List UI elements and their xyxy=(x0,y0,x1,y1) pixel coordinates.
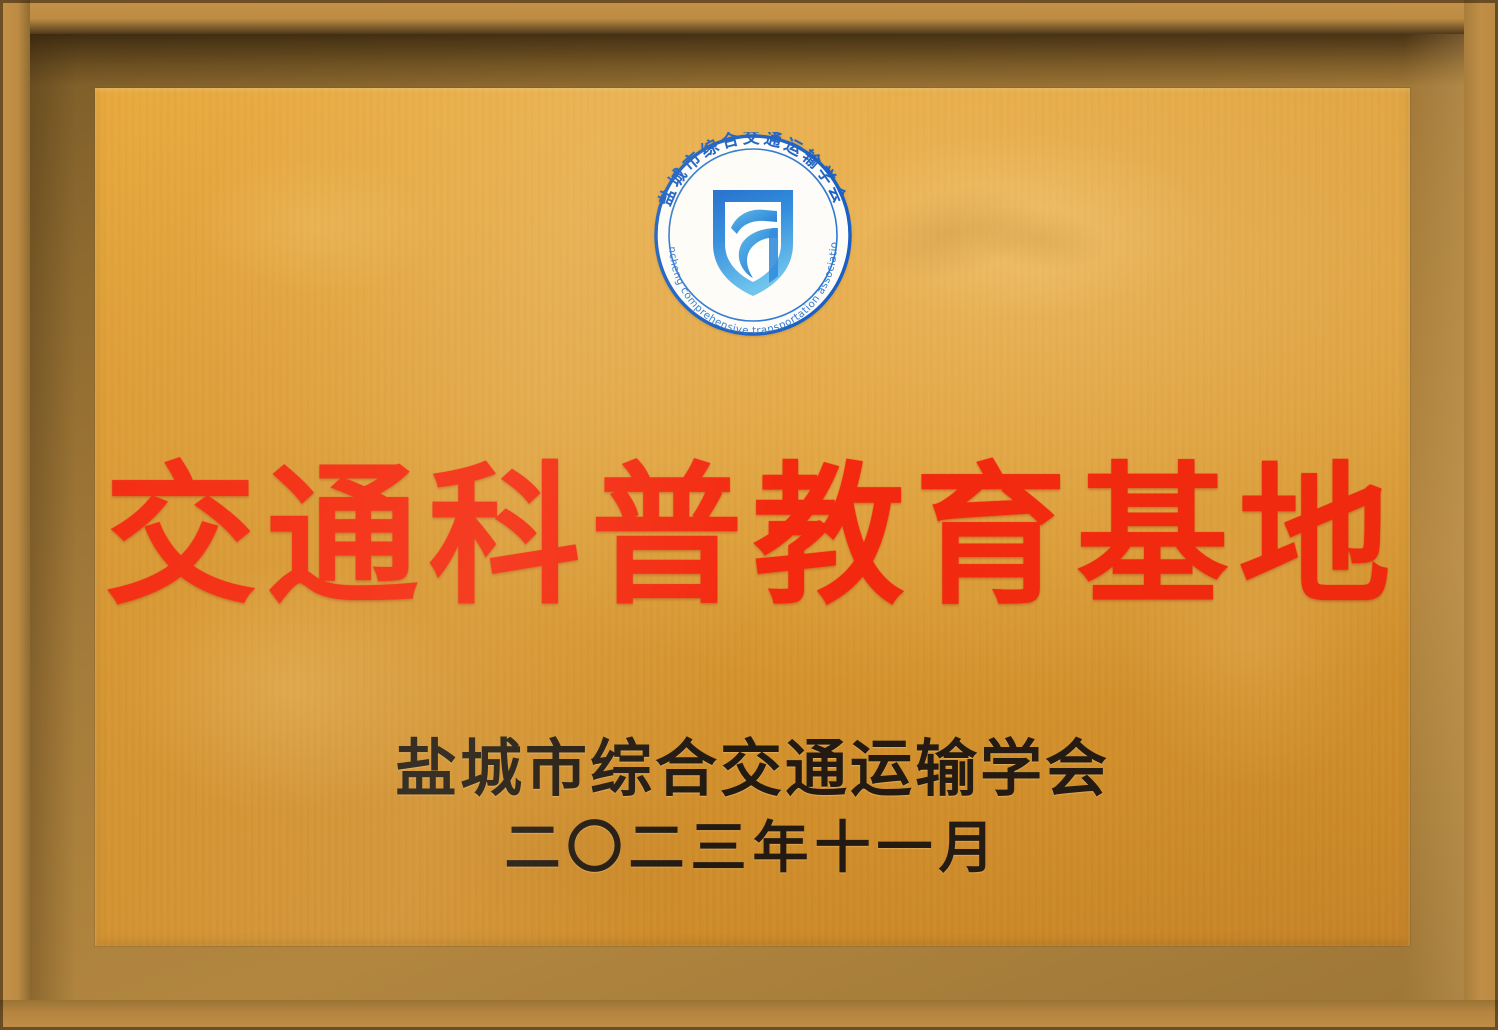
page-title: 交通科普教育基地 xyxy=(95,460,1410,612)
gold-plate: 盐城市综合交通运输学会 Yancheng comprehensive trans… xyxy=(95,88,1410,946)
frame-outer-right-edge xyxy=(1464,0,1498,1030)
plate-texture-blotch xyxy=(850,170,1049,298)
issue-date: 二〇二三年十一月 xyxy=(95,820,1410,876)
frame-outer-bottom-edge xyxy=(0,1000,1498,1030)
frame-right-highlight xyxy=(1404,34,1464,1000)
frame-left-shadow xyxy=(30,34,76,1000)
plate-texture-blotch xyxy=(200,157,437,294)
frame-top-shadow xyxy=(30,34,1464,86)
association-seal-icon: 盐城市综合交通运输学会 Yancheng comprehensive trans… xyxy=(641,132,865,338)
plate-texture-blotch xyxy=(959,198,1111,278)
plaque-photo: 盐城市综合交通运输学会 Yancheng comprehensive trans… xyxy=(0,0,1498,1030)
association-logo: 盐城市综合交通运输学会 Yancheng comprehensive trans… xyxy=(641,132,865,338)
frame-outer-left-edge xyxy=(0,0,30,1030)
issuing-organization: 盐城市综合交通运输学会 xyxy=(95,738,1410,800)
plate-texture-blotch xyxy=(818,131,1213,320)
frame-outer-top-edge xyxy=(0,0,1498,34)
